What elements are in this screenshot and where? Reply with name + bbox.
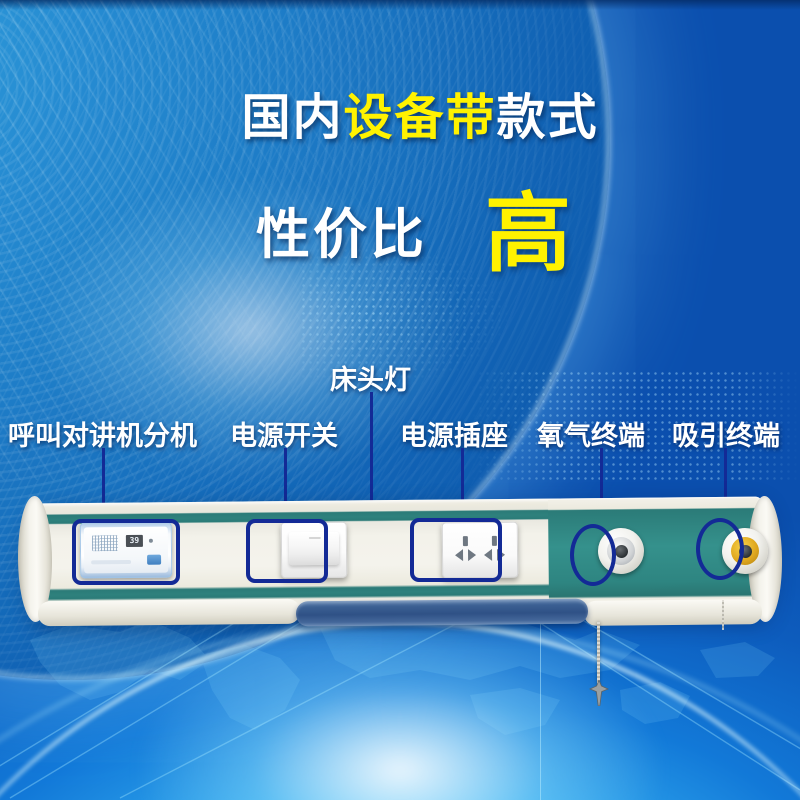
highlight-box-oxygen-terminal	[570, 524, 616, 586]
highlight-box-intercom	[72, 519, 180, 585]
panel-lower-rail-right	[584, 599, 762, 626]
top-edge-shadow	[0, 0, 800, 10]
highlight-box-power-switch	[246, 519, 328, 583]
highlight-box-power-socket	[410, 518, 502, 582]
callout-label-power-socket: 电源插座	[400, 414, 508, 453]
callout-label-oxygen-terminal: 氧气终端	[537, 414, 645, 453]
panel-lower-rail-left	[38, 599, 300, 627]
oxygen-terminal-port	[614, 544, 627, 557]
horizon-glow	[140, 620, 660, 800]
pull-cord-handle-icon[interactable]	[588, 680, 610, 706]
promotional-banner: 国内设备带款式 性价比高 呼叫对讲机分机 电源开关 床头灯 电源插座 氧气终端 …	[0, 0, 800, 800]
suction-pull-cord[interactable]	[722, 600, 724, 630]
bed-lamp-diffuser	[296, 599, 588, 627]
highlight-box-suction-terminal	[696, 518, 744, 580]
